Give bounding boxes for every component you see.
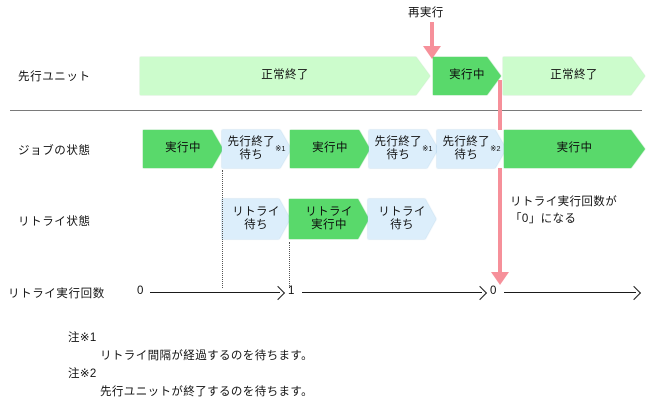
row-label-retry-count: リトライ実行回数 — [8, 285, 105, 301]
guide-line-right — [289, 242, 291, 288]
note-1-text: リトライ間隔が経過するのを待ちます。 — [100, 348, 313, 366]
job-state-segment-5-text: 先行終了 待ち — [442, 136, 490, 162]
retry-state-segment-1-label: リトライ 待ち — [222, 199, 290, 239]
retry-axis-segment-2 — [302, 292, 482, 293]
reexecute-annotation: 再実行 — [408, 5, 444, 22]
note-2-marker: 注※2 — [68, 366, 97, 384]
retry-count-value-0b: 0 — [490, 285, 496, 297]
preceding-unit-segment-3: 正常終了 — [503, 57, 645, 95]
diagram-canvas: 再実行 先行ユニット 正常終了 実行中 正常終了 ジョブの状態 実行中 先行終了… — [0, 0, 652, 403]
job-state-segment-5-note: ※2 — [490, 145, 500, 154]
retry-axis-arrow-3 — [627, 286, 641, 300]
preceding-unit-segment-2-label: 実行中 — [433, 57, 501, 95]
retry-axis-segment-3 — [504, 292, 636, 293]
row-label-preceding-unit: 先行ユニット — [18, 68, 91, 84]
retry-axis-arrow-2 — [473, 286, 487, 300]
job-state-segment-1: 実行中 — [143, 130, 223, 168]
job-state-segment-3-label: 実行中 — [290, 130, 370, 168]
retry-zero-callout: リトライ実行回数が 「0」になる — [510, 194, 617, 227]
job-state-segment-2-text: 先行終了 待ち — [227, 136, 275, 162]
retry-count-value-0a: 0 — [137, 285, 143, 297]
job-state-segment-4-label: 先行終了 待ち※1 — [369, 130, 438, 168]
retry-axis-arrow-1 — [271, 286, 285, 300]
preceding-unit-segment-3-label: 正常終了 — [503, 57, 645, 95]
retry-count-value-1: 1 — [288, 285, 294, 297]
job-state-segment-2-label: 先行終了 待ち※1 — [222, 130, 291, 168]
job-state-segment-4-note: ※1 — [422, 145, 432, 154]
job-state-segment-5: 先行終了 待ち※2 — [437, 130, 506, 168]
retry-zero-arrow-shaft — [498, 168, 502, 276]
section-divider — [10, 110, 642, 111]
row-label-retry-state: リトライ状態 — [18, 213, 91, 229]
retry-state-segment-3: リトライ 待ち — [368, 199, 436, 239]
note-2-text: 先行ユニットが終了するのを待ちます。 — [100, 384, 313, 402]
job-state-segment-2: 先行終了 待ち※1 — [222, 130, 291, 168]
reexecute-marker-line — [498, 80, 502, 130]
job-state-segment-6: 実行中 — [504, 130, 645, 168]
job-state-segment-6-label: 実行中 — [504, 130, 645, 168]
retry-state-segment-1: リトライ 待ち — [222, 199, 290, 239]
job-state-segment-2-note: ※1 — [275, 145, 285, 154]
retry-axis-segment-1 — [150, 292, 280, 293]
note-1-marker: 注※1 — [68, 330, 97, 348]
job-state-segment-3: 実行中 — [290, 130, 370, 168]
retry-state-segment-2: リトライ 実行中 — [289, 199, 369, 239]
guide-line-left — [222, 170, 224, 288]
job-state-segment-1-label: 実行中 — [143, 130, 223, 168]
job-state-segment-5-label: 先行終了 待ち※2 — [437, 130, 506, 168]
retry-zero-arrow-head — [491, 272, 509, 285]
preceding-unit-segment-1: 正常終了 — [140, 57, 430, 95]
retry-state-segment-2-label: リトライ 実行中 — [289, 199, 369, 239]
row-label-job-state: ジョブの状態 — [18, 142, 91, 158]
job-state-segment-4-text: 先行終了 待ち — [374, 136, 422, 162]
preceding-unit-segment-1-label: 正常終了 — [140, 57, 430, 95]
retry-state-segment-3-label: リトライ 待ち — [368, 199, 436, 239]
job-state-segment-4: 先行終了 待ち※1 — [369, 130, 438, 168]
preceding-unit-segment-2: 実行中 — [433, 57, 501, 95]
